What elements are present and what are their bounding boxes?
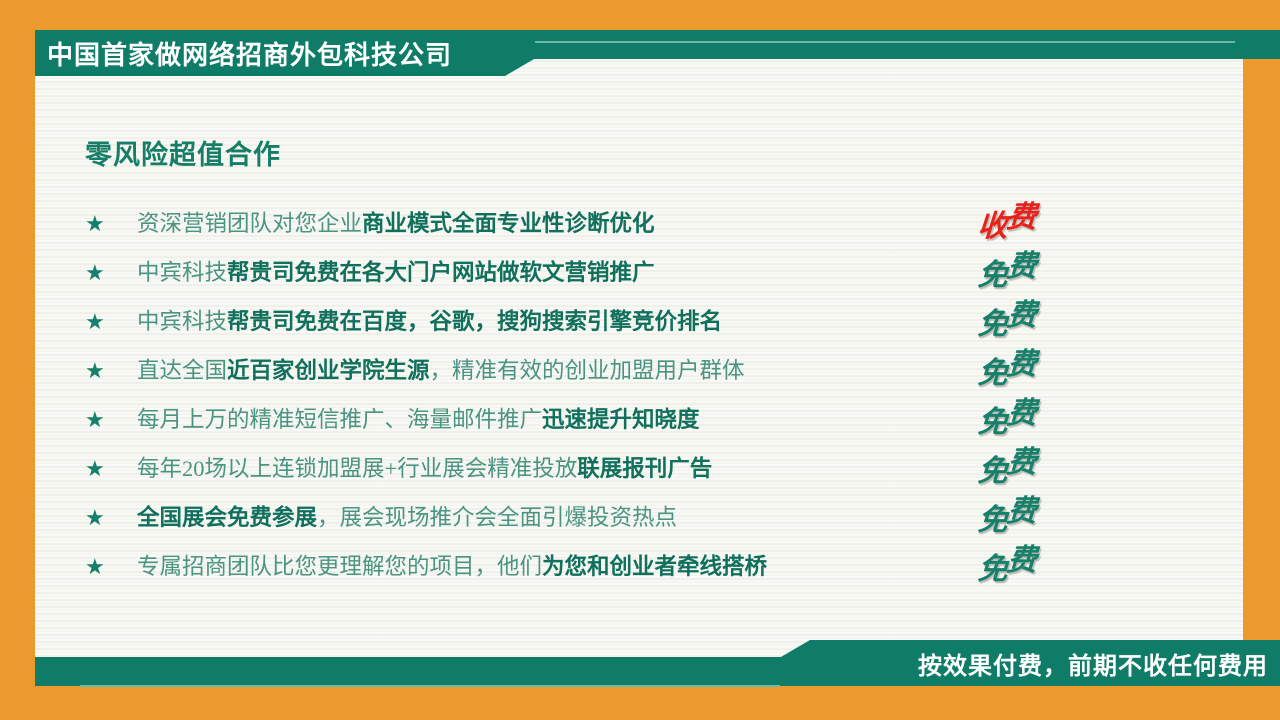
star-icon: ★ — [85, 214, 137, 236]
price-badge: 免费 — [947, 246, 1067, 290]
header-bar: 中国首家做网络招商外包科技公司 — [35, 30, 1280, 76]
benefit-text-plain-lead: 直达全国 — [137, 358, 227, 383]
price-badge-char: 免 — [976, 348, 1008, 392]
price-badge: 免费 — [947, 295, 1067, 339]
benefit-text-emphasis: 商业模式全面专业性诊断优化 — [362, 211, 655, 236]
price-badge-char: 收 — [976, 201, 1008, 245]
price-badge-char: 免 — [976, 446, 1008, 490]
price-badge-char: 费 — [1005, 437, 1037, 481]
footer-title-block: 按效果付费，前期不收任何费用 — [780, 640, 1280, 686]
price-badge: 免费 — [947, 442, 1067, 486]
benefit-text-emphasis: 为您和创业者牵线搭桥 — [542, 554, 767, 579]
price-badge-char: 费 — [1005, 290, 1037, 334]
footer-accent-rule — [80, 685, 780, 687]
benefit-text-plain-tail: ，精准有效的创业加盟用户群体 — [430, 358, 745, 383]
benefit-text: 专属招商团队比您更理解您的项目，他们为您和创业者牵线搭桥 — [137, 555, 1085, 580]
benefit-row: ★全国展会免费参展，展会现场推介会全面引爆投资热点免费 — [85, 494, 1085, 543]
benefit-text: 中宾科技帮贵司免费在各大门户网站做软文营销推广 — [137, 261, 1085, 286]
price-badge-char: 免 — [976, 495, 1008, 539]
star-icon: ★ — [85, 410, 137, 432]
price-badge: 收费 — [947, 197, 1067, 241]
benefit-text-emphasis: 联展报刊广告 — [577, 456, 712, 481]
slide-root: 中国首家做网络招商外包科技公司 零风险超值合作 ★资深营销团队对您企业商业模式全… — [0, 0, 1280, 720]
benefit-row: ★每月上万的精准短信推广、海量邮件推广迅速提升知晓度免费 — [85, 396, 1085, 445]
price-badge: 免费 — [947, 540, 1067, 584]
benefit-text-plain-lead: 专属招商团队比您更理解您的项目，他们 — [137, 554, 542, 579]
star-icon: ★ — [85, 312, 137, 334]
benefit-text-emphasis: 迅速提升知晓度 — [542, 407, 700, 432]
price-badge-char: 免 — [976, 250, 1008, 294]
benefit-row: ★中宾科技帮贵司免费在各大门户网站做软文营销推广免费 — [85, 249, 1085, 298]
price-badge-char: 费 — [1005, 339, 1037, 383]
price-badge: 免费 — [947, 344, 1067, 388]
header-title-block: 中国首家做网络招商外包科技公司 — [35, 30, 535, 76]
benefit-text: 每月上万的精准短信推广、海量邮件推广迅速提升知晓度 — [137, 408, 1085, 433]
benefit-row: ★直达全国近百家创业学院生源，精准有效的创业加盟用户群体免费 — [85, 347, 1085, 396]
price-badge-char: 免 — [976, 299, 1008, 343]
benefit-text-plain-tail: ，展会现场推介会全面引爆投资热点 — [317, 505, 677, 530]
star-icon: ★ — [85, 263, 137, 285]
star-icon: ★ — [85, 361, 137, 383]
star-icon: ★ — [85, 459, 137, 481]
benefit-text-emphasis: 帮贵司免费在百度，谷歌，搜狗搜索引擎竞价排名 — [227, 309, 722, 334]
page-title: 零风险超值合作 — [85, 133, 281, 172]
benefit-text-emphasis: 帮贵司免费在各大门户网站做软文营销推广 — [227, 260, 655, 285]
benefit-text-plain-lead: 每月上万的精准短信推广、海量邮件推广 — [137, 407, 542, 432]
benefit-text: 直达全国近百家创业学院生源，精准有效的创业加盟用户群体 — [137, 359, 1085, 384]
benefit-text-plain-lead: 资深营销团队对您企业 — [137, 211, 362, 236]
price-badge-char: 免 — [976, 397, 1008, 441]
benefit-row: ★中宾科技帮贵司免费在百度，谷歌，搜狗搜索引擎竞价排名免费 — [85, 298, 1085, 347]
footer-title: 按效果付费，前期不收任何费用 — [918, 646, 1268, 681]
benefit-row: ★资深营销团队对您企业商业模式全面专业性诊断优化收费 — [85, 200, 1085, 249]
price-badge-char: 费 — [1005, 241, 1037, 285]
benefit-row: ★专属招商团队比您更理解您的项目，他们为您和创业者牵线搭桥免费 — [85, 543, 1085, 592]
star-icon: ★ — [85, 508, 137, 530]
header-title: 中国首家做网络招商外包科技公司 — [47, 35, 452, 72]
benefit-text: 每年20场以上连锁加盟展+行业展会精准投放联展报刊广告 — [137, 457, 1085, 482]
benefit-text-emphasis: 近百家创业学院生源 — [227, 358, 430, 383]
price-badge-char: 免 — [976, 544, 1008, 588]
benefit-text-emphasis: 全国展会免费参展 — [137, 505, 317, 530]
benefit-text: 资深营销团队对您企业商业模式全面专业性诊断优化 — [137, 212, 1085, 237]
benefit-text-plain-lead: 中宾科技 — [137, 260, 227, 285]
star-icon: ★ — [85, 557, 137, 579]
footer-bar: 按效果付费，前期不收任何费用 — [35, 640, 1280, 686]
price-badge-char: 费 — [1005, 388, 1037, 432]
price-badge: 免费 — [947, 393, 1067, 437]
benefit-list: ★资深营销团队对您企业商业模式全面专业性诊断优化收费★中宾科技帮贵司免费在各大门… — [85, 200, 1085, 592]
benefit-row: ★每年20场以上连锁加盟展+行业展会精准投放联展报刊广告免费 — [85, 445, 1085, 494]
price-badge-char: 费 — [1005, 535, 1037, 579]
benefit-text: 全国展会免费参展，展会现场推介会全面引爆投资热点 — [137, 506, 1085, 531]
benefit-text-plain-lead: 每年20场以上连锁加盟展+行业展会精准投放 — [137, 456, 577, 481]
price-badge: 免费 — [947, 491, 1067, 535]
price-badge-char: 费 — [1005, 486, 1037, 530]
price-badge-char: 费 — [1005, 192, 1037, 236]
benefit-text-plain-lead: 中宾科技 — [137, 309, 227, 334]
benefit-text: 中宾科技帮贵司免费在百度，谷歌，搜狗搜索引擎竞价排名 — [137, 310, 1085, 335]
